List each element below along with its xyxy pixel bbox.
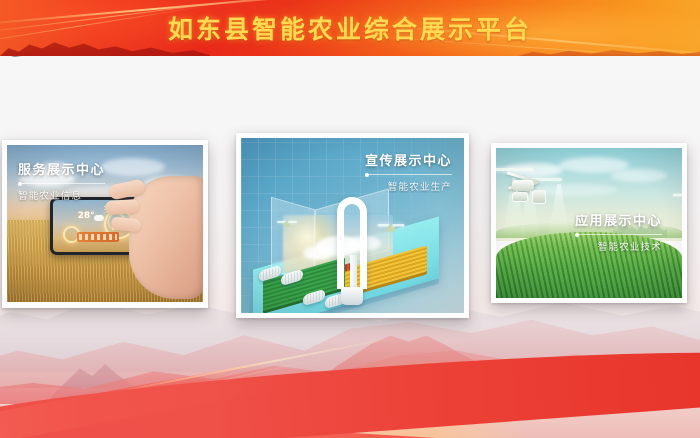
card-application-center-text: 应用展示中心 智能农业技术 bbox=[575, 210, 662, 253]
water-bucket bbox=[341, 287, 363, 305]
card-promotion-center[interactable]: 宣传展示中心 智能农业生产 bbox=[236, 133, 469, 318]
drone-body bbox=[512, 180, 534, 191]
drone-body bbox=[284, 222, 290, 227]
page-root: 如东县智能农业综合展示平台 28° bbox=[0, 0, 700, 438]
title-divider bbox=[365, 174, 452, 175]
card-service-center-title: 服务展示中心 bbox=[18, 159, 105, 178]
card-promotion-center-subtitle: 智能农业生产 bbox=[365, 179, 452, 193]
drone-tank bbox=[512, 192, 528, 202]
drone-tank bbox=[532, 190, 546, 204]
finger bbox=[105, 199, 140, 215]
card-promotion-center-image: 宣传展示中心 智能农业生产 bbox=[241, 138, 464, 313]
hud-temperature: 28° bbox=[78, 211, 95, 221]
title-divider bbox=[18, 183, 105, 184]
drone-body bbox=[387, 225, 395, 232]
card-service-center-subtitle: 智能农业信息 bbox=[18, 188, 105, 202]
header-banner: 如东县智能农业综合展示平台 bbox=[0, 0, 700, 56]
card-application-center[interactable]: 应用展示中心 智能农业技术 bbox=[491, 143, 687, 303]
cloud bbox=[101, 158, 165, 176]
card-application-center-image: 应用展示中心 智能农业技术 bbox=[496, 148, 682, 298]
hand-holding-phone bbox=[129, 176, 203, 298]
hud-info-chip bbox=[77, 232, 119, 242]
drone-icon bbox=[378, 223, 405, 234]
title-divider bbox=[575, 234, 662, 235]
card-promotion-center-title: 宣传展示中心 bbox=[365, 150, 452, 169]
page-title: 如东县智能农业综合展示平台 bbox=[0, 0, 700, 56]
card-service-center-text: 服务展示中心 智能农业信息 bbox=[18, 159, 105, 202]
card-application-center-title: 应用展示中心 bbox=[575, 210, 662, 229]
card-service-center[interactable]: 28° 服务展示中心 智能农业信息 bbox=[2, 140, 208, 308]
hud-cloud-icon bbox=[94, 215, 104, 221]
card-promotion-center-text: 宣传展示中心 智能农业生产 bbox=[365, 150, 452, 193]
cloud bbox=[611, 169, 667, 182]
drone-icon bbox=[277, 220, 297, 228]
drone-rotor bbox=[496, 168, 534, 171]
card-service-center-image: 28° 服务展示中心 智能农业信息 bbox=[7, 145, 203, 302]
drone-rotor bbox=[673, 194, 682, 196]
card-application-center-subtitle: 智能农业技术 bbox=[575, 239, 662, 253]
